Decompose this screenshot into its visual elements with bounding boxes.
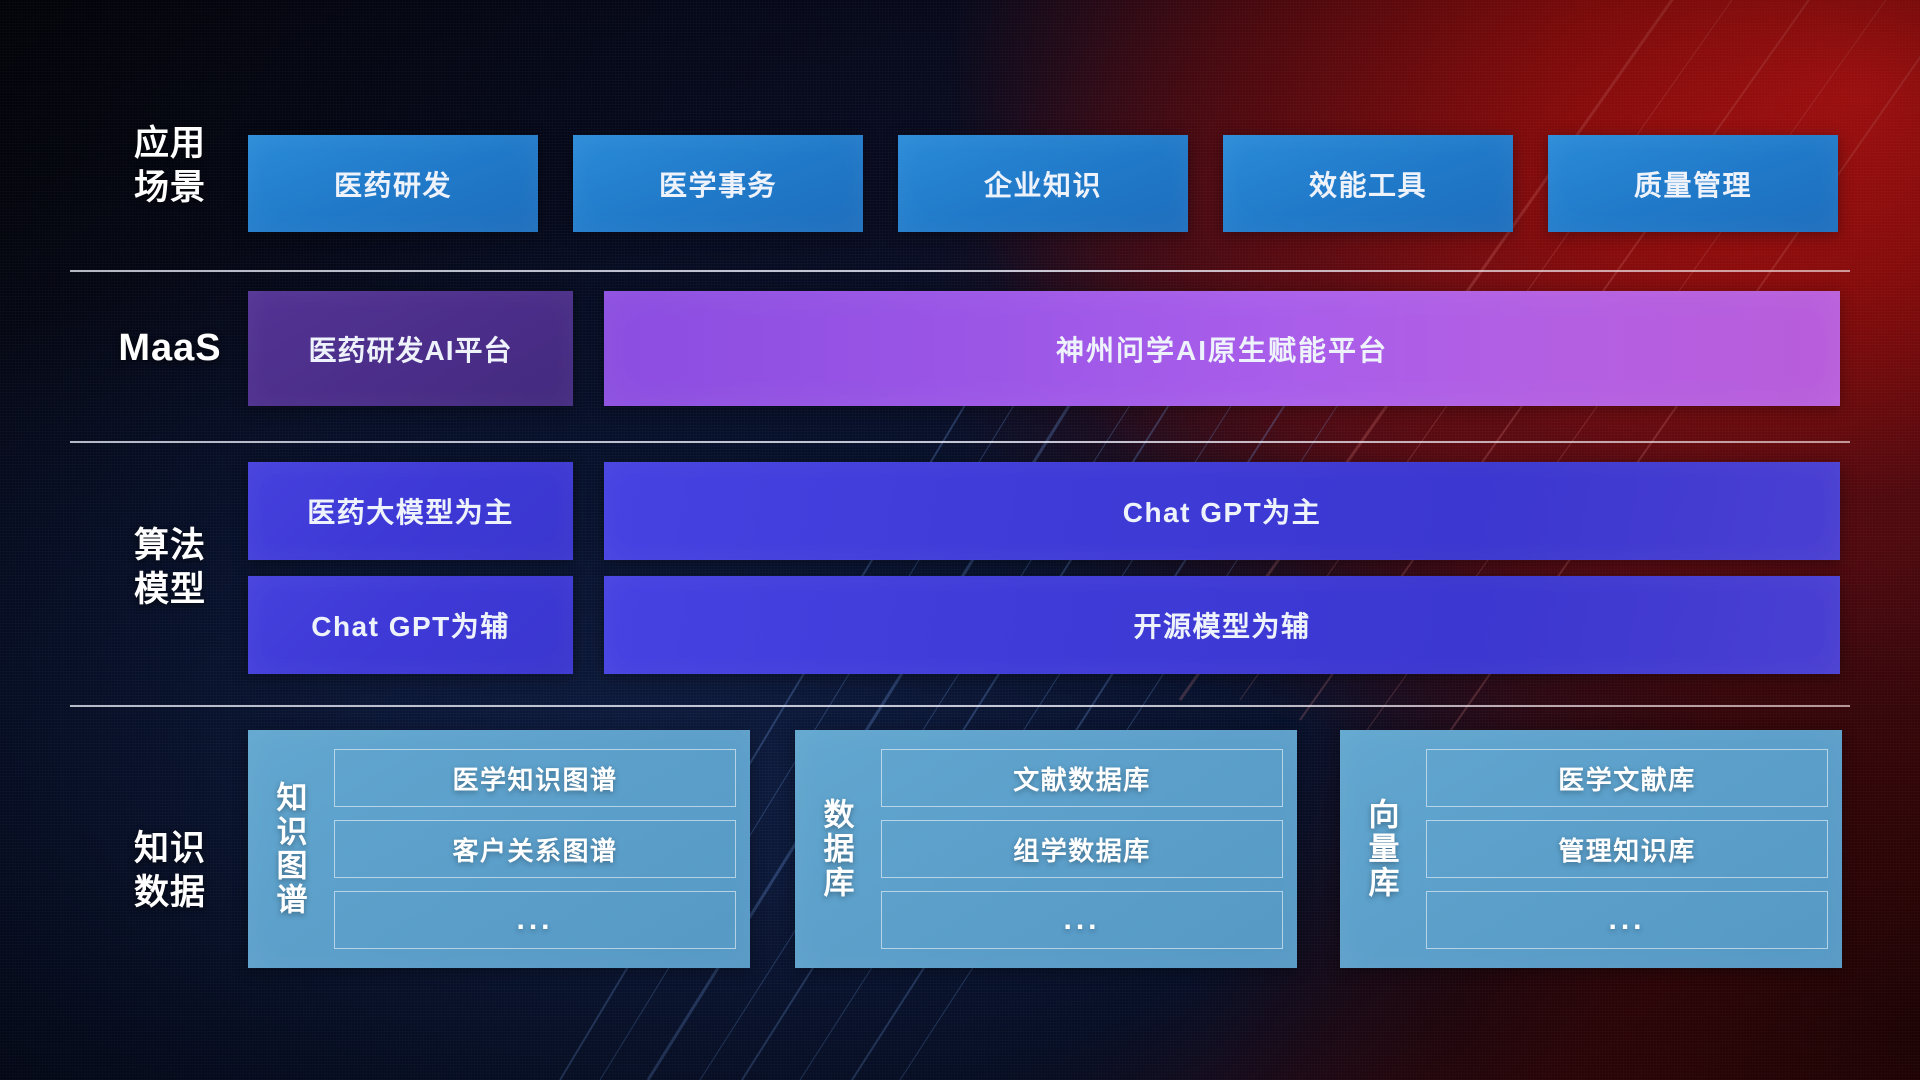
- app-box-efficiency-tools[interactable]: 效能工具: [1223, 135, 1513, 232]
- knowledge-item[interactable]: 管理知识库: [1426, 820, 1828, 878]
- divider-application-maas: [70, 270, 1850, 272]
- knowledge-item-more[interactable]: ...: [881, 891, 1283, 949]
- maas-box-shenzhou-wenxue-platform[interactable]: 神州问学AI原生赋能平台: [604, 291, 1840, 406]
- algo-box-pharma-llm-primary[interactable]: 医药大模型为主: [248, 462, 573, 560]
- knowledge-item[interactable]: 客户关系图谱: [334, 820, 736, 878]
- row-label-application: 应用 场景: [90, 122, 250, 210]
- knowledge-item-list: 医学知识图谱 客户关系图谱 ...: [320, 740, 736, 958]
- row-label-knowledge: 知识 数据: [90, 827, 250, 915]
- knowledge-item-more[interactable]: ...: [334, 891, 736, 949]
- algo-box-chatgpt-primary[interactable]: Chat GPT为主: [604, 462, 1840, 560]
- app-box-quality-management[interactable]: 质量管理: [1548, 135, 1838, 232]
- knowledge-block-graph[interactable]: 知识图谱 医学知识图谱 客户关系图谱 ...: [248, 730, 750, 968]
- knowledge-item-more[interactable]: ...: [1426, 891, 1828, 949]
- knowledge-item[interactable]: 文献数据库: [881, 749, 1283, 807]
- maas-box-drug-rd-ai-platform[interactable]: 医药研发AI平台: [248, 291, 573, 406]
- knowledge-item-list: 医学文献库 管理知识库 ...: [1412, 740, 1828, 958]
- knowledge-item-list: 文献数据库 组学数据库 ...: [867, 740, 1283, 958]
- app-box-enterprise-knowledge[interactable]: 企业知识: [898, 135, 1188, 232]
- knowledge-item[interactable]: 医学文献库: [1426, 749, 1828, 807]
- algo-box-opensource-secondary[interactable]: 开源模型为辅: [604, 576, 1840, 674]
- algo-box-chatgpt-secondary[interactable]: Chat GPT为辅: [248, 576, 573, 674]
- knowledge-item[interactable]: 医学知识图谱: [334, 749, 736, 807]
- divider-algorithm-knowledge: [70, 705, 1850, 707]
- knowledge-block-vector[interactable]: 向量库 医学文献库 管理知识库 ...: [1340, 730, 1842, 968]
- app-box-drug-rd[interactable]: 医药研发: [248, 135, 538, 232]
- knowledge-block-title-database: 数据库: [805, 740, 867, 958]
- row-label-algorithm: 算法 模型: [90, 524, 250, 612]
- knowledge-item[interactable]: 组学数据库: [881, 820, 1283, 878]
- app-box-medical-affairs[interactable]: 医学事务: [573, 135, 863, 232]
- knowledge-block-title-vector: 向量库: [1350, 740, 1412, 958]
- row-label-maas: MaaS: [90, 326, 250, 370]
- knowledge-block-title-graph: 知识图谱: [258, 740, 320, 958]
- architecture-diagram: 应用 场景 医药研发 医学事务 企业知识 效能工具 质量管理 MaaS 医药研发…: [0, 0, 1920, 1080]
- knowledge-block-database[interactable]: 数据库 文献数据库 组学数据库 ...: [795, 730, 1297, 968]
- divider-maas-algorithm: [70, 441, 1850, 443]
